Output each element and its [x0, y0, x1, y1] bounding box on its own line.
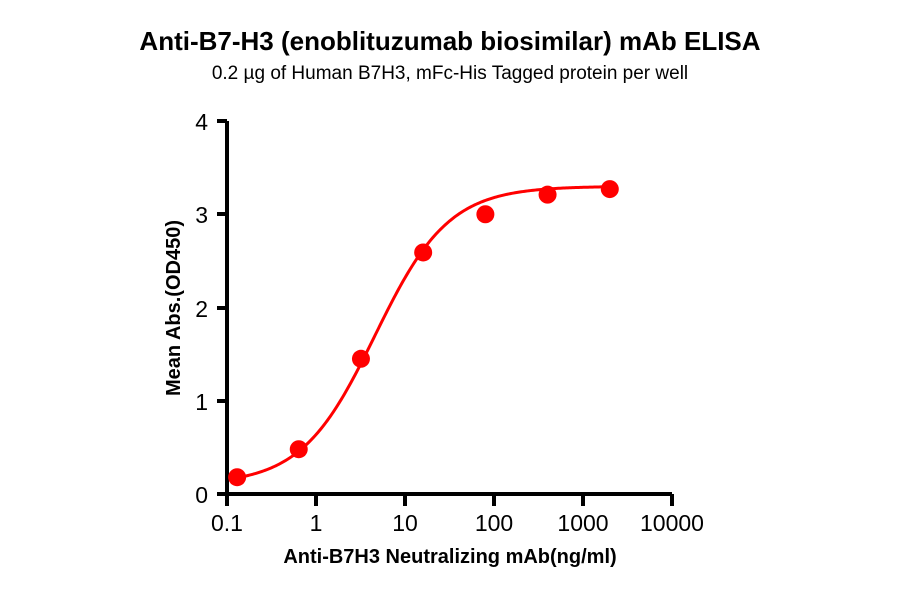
- x-axis-label: Anti-B7H3 Neutralizing mAb(ng/ml): [283, 546, 616, 568]
- y-axis-label: Mean Abs.(OD450): [163, 220, 185, 396]
- x-tick-label-100: 100: [475, 510, 513, 536]
- y-tick-label-4: 4: [195, 109, 208, 135]
- chart-subtitle: 0.2 µg of Human B7H3, mFc-His Tagged pro…: [212, 63, 688, 84]
- y-tick-label-0: 0: [195, 482, 208, 508]
- x-tick-label-10000: 10000: [640, 510, 704, 536]
- y-tick-label-3: 3: [195, 202, 208, 228]
- x-tick-label-1000: 1000: [557, 510, 608, 536]
- data-point: [414, 243, 432, 261]
- chart-title: Anti-B7-H3 (enoblituzumab biosimilar) mA…: [139, 26, 760, 56]
- y-tick-label-1: 1: [195, 389, 208, 415]
- x-tick-label-10: 10: [392, 510, 418, 536]
- data-point: [476, 205, 494, 223]
- data-point: [601, 180, 619, 198]
- elisa-chart-figure: Anti-B7-H3 (enoblituzumab biosimilar) mA…: [0, 0, 900, 594]
- chart-background: [0, 0, 900, 594]
- x-tick-label-1: 1: [310, 510, 323, 536]
- data-point: [290, 440, 308, 458]
- data-point: [539, 186, 557, 204]
- data-point: [352, 350, 370, 368]
- data-point: [228, 468, 246, 486]
- y-tick-label-2: 2: [195, 296, 208, 322]
- x-tick-label-0.1: 0.1: [211, 510, 243, 536]
